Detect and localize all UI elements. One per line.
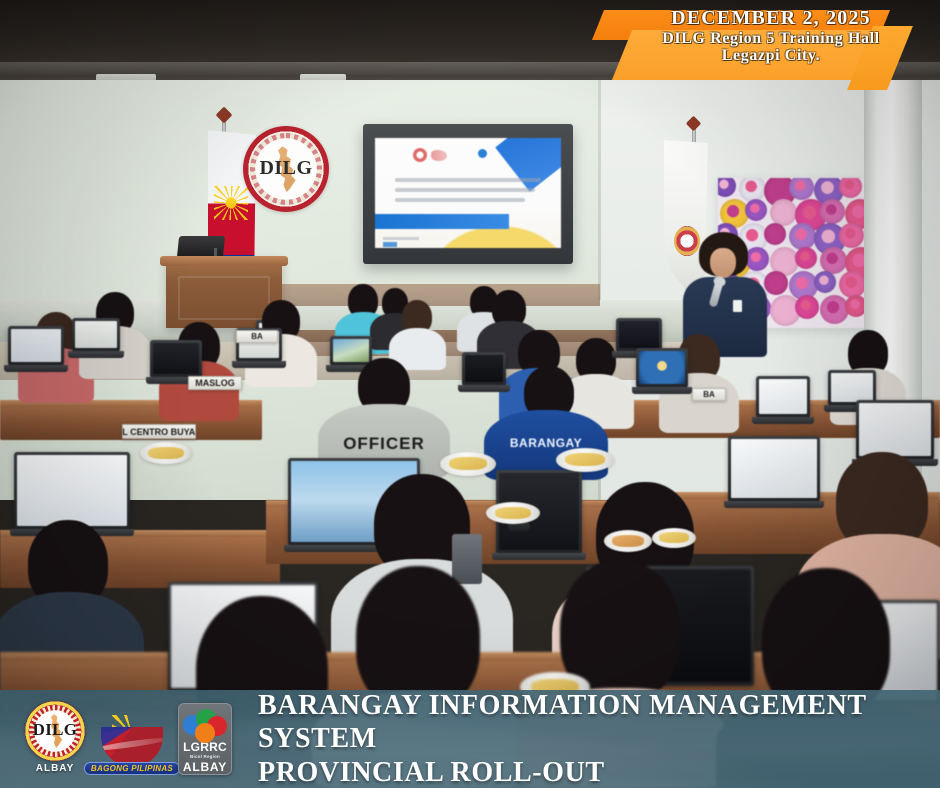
bagong-pilipinas-logo: BAGONG PILIPINAS xyxy=(94,701,170,777)
paper-flower xyxy=(839,178,862,198)
officer-shirt-text: OFFICER xyxy=(318,434,450,454)
podium-panel xyxy=(178,276,270,320)
event-title-line-2: PROVINCIAL ROLL-OUT xyxy=(258,756,940,788)
dilg-logo-subtext: ALBAY xyxy=(36,763,75,774)
laptop xyxy=(150,340,202,378)
table-placard: EL CENTRO BUYAN xyxy=(122,424,196,439)
dilg-flag-emblem-icon xyxy=(674,226,700,256)
paper-flower xyxy=(820,199,845,224)
laptop xyxy=(462,352,506,386)
food-plate xyxy=(652,528,696,548)
slide-text-line xyxy=(395,178,541,182)
podium-laptop xyxy=(177,236,225,258)
laptop-screen xyxy=(11,329,61,362)
event-venue: DILG Region 5 Training Hall xyxy=(612,30,930,47)
event-details-banner: DECEMBER 2, 2025 DILG Region 5 Training … xyxy=(588,0,940,96)
laptop-screen xyxy=(639,351,685,384)
laptop xyxy=(72,318,120,352)
paper-flower xyxy=(839,271,866,298)
dilg-albay-logo: DILG ALBAY xyxy=(24,701,86,777)
mobile-phone xyxy=(452,534,482,584)
event-title: BARANGAY INFORMATION MANAGEMENT SYSTEM P… xyxy=(258,690,940,788)
paper-flower xyxy=(745,199,767,221)
dilg-seal-text: DILG xyxy=(243,157,329,180)
bagong-pilipinas-bowl-icon xyxy=(101,727,163,767)
dilg-seal-disc: DILG xyxy=(25,701,85,761)
table-placard: MASLOG xyxy=(188,376,242,390)
laptop-base xyxy=(68,351,124,358)
event-title-line-1: BARANGAY INFORMATION MANAGEMENT SYSTEM xyxy=(258,690,940,756)
slide-corner-accent xyxy=(495,138,561,192)
laptop-screen xyxy=(759,379,807,414)
laptop xyxy=(330,336,372,366)
laptop-screen xyxy=(153,343,199,374)
laptop-base xyxy=(632,387,692,394)
paper-flower xyxy=(795,295,819,319)
laptop-base xyxy=(232,361,286,368)
laptop xyxy=(8,326,64,366)
projector-screen-frame xyxy=(363,124,573,264)
paper-flower xyxy=(764,271,788,295)
rear-counter xyxy=(270,284,600,306)
food-plate xyxy=(604,530,652,552)
event-photograph: DILG xyxy=(0,0,940,788)
laptop-base xyxy=(724,501,824,508)
laptop-base xyxy=(752,417,814,424)
paper-flower xyxy=(764,223,786,245)
logo-group: DILG ALBAY BAGONG PILIPINAS LGRRC Bicol … xyxy=(24,701,232,777)
laptop xyxy=(756,376,810,418)
laptop xyxy=(856,400,934,460)
screenshot-root: DILG xyxy=(0,0,940,788)
laptop-base xyxy=(458,385,510,392)
flag-sun-icon xyxy=(214,186,248,220)
lgrrc-circle-orange xyxy=(195,723,215,743)
slide-footer-line xyxy=(383,237,419,240)
title-banner: DILG ALBAY BAGONG PILIPINAS LGRRC Bicol … xyxy=(0,690,940,788)
paper-flower xyxy=(718,178,736,197)
paper-flower xyxy=(789,223,816,250)
laptop-base xyxy=(4,365,68,372)
lgrrc-logo-province: ALBAY xyxy=(183,760,227,774)
laptop-screen xyxy=(619,321,659,348)
paper-flower xyxy=(839,223,864,248)
lgrrc-logo-region: Bicol Region xyxy=(190,754,220,759)
presentation-slide xyxy=(375,138,561,248)
paper-flower xyxy=(770,199,797,226)
laptop-screen xyxy=(859,403,931,456)
food-plate xyxy=(140,442,192,464)
laptop xyxy=(728,436,820,502)
lgrrc-circles-icon xyxy=(183,709,227,739)
slide-logo-a-icon xyxy=(413,148,427,162)
laptop-screen xyxy=(75,321,117,348)
laptop xyxy=(616,318,662,352)
presenter-id-badge xyxy=(733,300,742,312)
slide-highlight-bar xyxy=(375,214,509,229)
food-plate xyxy=(556,448,614,472)
laptop-screen xyxy=(333,339,369,362)
slide-logo-b-icon xyxy=(431,150,447,161)
slide-text-line xyxy=(395,198,525,202)
paper-flower xyxy=(789,178,814,200)
food-plate xyxy=(440,452,496,476)
paper-flower xyxy=(745,247,769,271)
bagong-pilipinas-label: BAGONG PILIPINAS xyxy=(84,762,180,775)
paper-flower xyxy=(795,247,817,269)
lgrrc-albay-logo: LGRRC Bicol Region ALBAY xyxy=(178,703,232,775)
laptop xyxy=(14,452,130,530)
laptop-screen xyxy=(731,439,817,498)
table-placard: BA xyxy=(236,330,278,343)
slide-footer-mark xyxy=(383,242,397,247)
dilg-wall-seal: DILG xyxy=(243,126,329,212)
table-placard: BA xyxy=(692,388,726,401)
laptop-screen xyxy=(465,355,503,382)
podium-top xyxy=(160,256,288,266)
event-city: Legazpi City. xyxy=(612,47,930,64)
laptop-base xyxy=(492,553,586,560)
presenter-face xyxy=(710,248,736,278)
paper-flower xyxy=(820,247,847,274)
paper-flower xyxy=(814,271,836,293)
laptop-screen xyxy=(831,373,873,402)
laptop-screen xyxy=(17,455,127,526)
banner-text-group: DECEMBER 2, 2025 DILG Region 5 Training … xyxy=(612,8,930,64)
food-plate xyxy=(486,502,540,524)
slide-text-line xyxy=(395,188,535,192)
dilg-logo-text: DILG xyxy=(25,720,85,740)
laptop xyxy=(636,348,688,388)
slide-dot-icon xyxy=(478,149,487,158)
event-date: DECEMBER 2, 2025 xyxy=(612,8,930,30)
